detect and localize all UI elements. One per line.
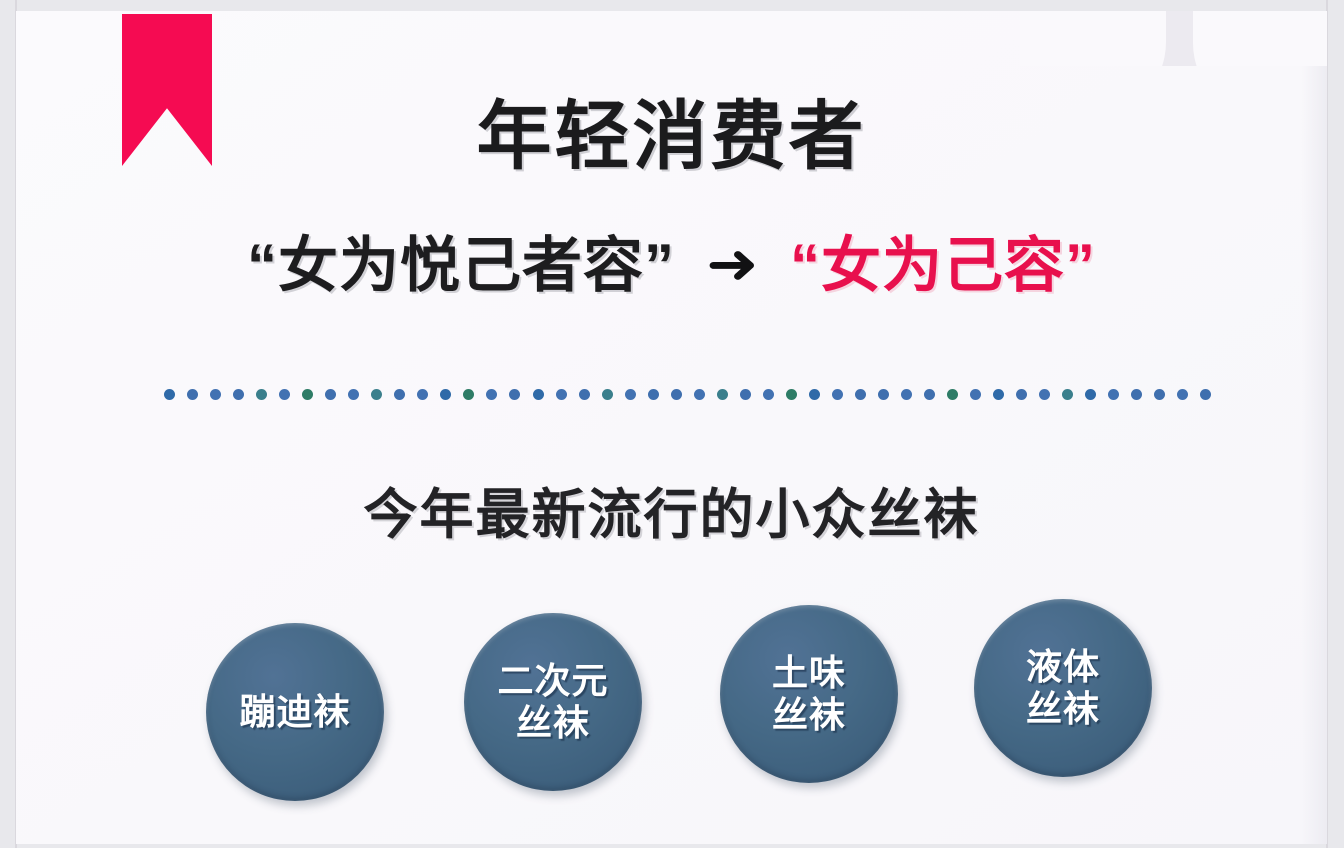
scallop-notch-decoration <box>1020 11 1327 66</box>
divider-dot <box>924 389 935 400</box>
section-heading: 今年最新流行的小众丝袜 <box>16 470 1327 549</box>
scallop-notch-1 <box>1020 11 1166 66</box>
divider-dot <box>348 389 359 400</box>
divider-dot <box>993 389 1004 400</box>
divider-dot <box>371 389 382 400</box>
divider-dot <box>901 389 912 400</box>
divider-dot <box>1154 389 1165 400</box>
quote-after-text: “女为己容” <box>790 233 1096 299</box>
dotted-divider <box>164 387 1212 401</box>
divider-dot <box>1200 389 1211 400</box>
divider-dot <box>717 389 728 400</box>
divider-dot <box>786 389 797 400</box>
divider-dot <box>279 389 290 400</box>
divider-dot <box>694 389 705 400</box>
tag-circle-label: 液体 <box>1026 646 1100 688</box>
divider-dot <box>809 389 820 400</box>
divider-dot <box>625 389 636 400</box>
page-title: 年轻消费者 <box>16 75 1327 184</box>
divider-dot <box>486 389 497 400</box>
divider-dot <box>1177 389 1188 400</box>
divider-dot <box>302 389 313 400</box>
quote-transformation-row: “女为悦己者容” ➜ “女为己容” <box>16 233 1327 299</box>
divider-dot <box>763 389 774 400</box>
divider-dot <box>648 389 659 400</box>
divider-dot <box>878 389 889 400</box>
divider-dot <box>1062 389 1073 400</box>
divider-dot <box>740 389 751 400</box>
tag-circle-erciyuan[interactable]: 二次元丝袜 <box>464 613 642 791</box>
divider-dot <box>1108 389 1119 400</box>
divider-dot <box>256 389 267 400</box>
divider-dot <box>855 389 866 400</box>
tag-circle-label: 丝袜 <box>516 702 590 744</box>
divider-dot <box>947 389 958 400</box>
divider-dot <box>210 389 221 400</box>
scallop-notch-2 <box>1193 11 1327 66</box>
divider-dot <box>1016 389 1027 400</box>
divider-dot <box>556 389 567 400</box>
divider-dot <box>187 389 198 400</box>
divider-dot <box>463 389 474 400</box>
divider-dot <box>325 389 336 400</box>
divider-dot <box>233 389 244 400</box>
divider-dot <box>1085 389 1096 400</box>
quote-before-text: “女为悦己者容” <box>247 233 675 299</box>
arrow-right-icon: ➜ <box>706 236 759 292</box>
divider-dot <box>602 389 613 400</box>
tag-circle-yeti[interactable]: 液体丝袜 <box>974 599 1152 777</box>
tag-circle-label: 土味 <box>772 652 846 694</box>
tag-circle-row: 蹦迪袜二次元丝袜土味丝袜液体丝袜 <box>192 599 1192 829</box>
tag-circle-label: 丝袜 <box>1026 688 1100 730</box>
divider-dot <box>671 389 682 400</box>
divider-dot <box>440 389 451 400</box>
divider-dot <box>1131 389 1142 400</box>
divider-dot <box>1039 389 1050 400</box>
tag-circle-tuwei[interactable]: 土味丝袜 <box>720 605 898 783</box>
divider-dot <box>970 389 981 400</box>
divider-dot <box>417 389 428 400</box>
tag-circle-bengdiwa[interactable]: 蹦迪袜 <box>206 623 384 801</box>
divider-dot <box>509 389 520 400</box>
slide-frame: 年轻消费者 “女为悦己者容” ➜ “女为己容” 今年最新流行的小众丝袜 蹦迪袜二… <box>0 0 1344 848</box>
divider-dot <box>533 389 544 400</box>
divider-dot <box>832 389 843 400</box>
tag-circle-label: 二次元 <box>497 660 608 702</box>
tag-circle-label: 蹦迪袜 <box>239 691 350 733</box>
divider-dot <box>164 389 175 400</box>
tag-circle-label: 丝袜 <box>772 694 846 736</box>
divider-dot <box>579 389 590 400</box>
divider-dot <box>394 389 405 400</box>
slide-card: 年轻消费者 “女为悦己者容” ➜ “女为己容” 今年最新流行的小众丝袜 蹦迪袜二… <box>16 11 1327 844</box>
